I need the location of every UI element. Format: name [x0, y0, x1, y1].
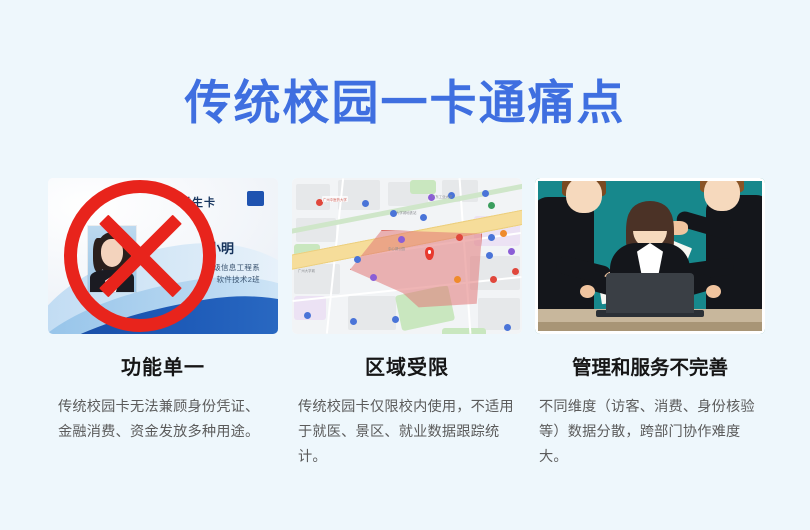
card-type-label: 学生卡 — [180, 194, 216, 210]
map-poi-marker — [392, 316, 399, 323]
map-poi-marker — [482, 190, 489, 197]
map-poi-marker — [350, 318, 357, 325]
page-title: 传统校园一卡通痛点 — [0, 76, 810, 130]
student-photo — [88, 226, 136, 292]
map-label: 中心湖公园 — [388, 246, 405, 251]
student-id-card-image: 学生卡 小明 23级信息工程系 软件技术2班 — [48, 178, 278, 334]
card-heading: 管理和服务不完善 — [535, 356, 765, 380]
left-person-head — [566, 178, 602, 213]
card-description: 不同维度（访客、消费、身份核验等）数据分散，跨部门协作难度大。 — [535, 395, 765, 470]
map-image: 广州中医药大学 大学城地铁站 广东工业大学 中心湖公园 广州大学城 — [292, 178, 522, 334]
map-poi-marker — [488, 234, 495, 241]
map-poi-marker — [488, 202, 495, 209]
map-poi-marker — [512, 268, 519, 275]
map-label: 广东工业大学 — [432, 194, 452, 199]
pain-point-card-area-restricted[interactable]: 广州中医药大学 大学城地铁站 广东工业大学 中心湖公园 广州大学城 区域受限 传… — [292, 178, 522, 470]
map-poi-marker — [486, 252, 493, 259]
card-chip-icon — [247, 191, 264, 206]
map-poi-marker — [500, 230, 507, 237]
office-graphic — [535, 178, 765, 334]
id-card-graphic: 学生卡 小明 23级信息工程系 软件技术2班 — [48, 178, 278, 334]
map-poi-marker — [490, 276, 497, 283]
map-park — [410, 180, 436, 194]
infographic-page: 传统校园一卡通痛点 学生卡 — [0, 0, 810, 530]
map-park — [442, 328, 486, 334]
photo-face — [101, 239, 123, 267]
map-label: 大学城地铁站 — [396, 210, 416, 215]
office-illustration-image — [535, 178, 765, 334]
center-person-hair — [629, 201, 671, 231]
center-person-hand-left — [580, 285, 595, 298]
desk-edge — [538, 322, 762, 331]
map-block — [478, 298, 520, 330]
card-heading: 区域受限 — [292, 356, 522, 380]
map-poi-marker — [420, 214, 427, 221]
map-block — [338, 180, 380, 210]
map-block — [348, 296, 396, 330]
pain-point-card-management-service[interactable]: 管理和服务不完善 不同维度（访客、消费、身份核验等）数据分散，跨部门协作难度大。 — [535, 178, 765, 470]
pain-point-columns: 学生卡 小明 23级信息工程系 软件技术2班 功能单一 传统校园卡无法兼顾身份凭… — [0, 178, 810, 498]
laptop-icon — [606, 273, 694, 313]
map-graphic: 广州中医药大学 大学城地铁站 广东工业大学 中心湖公园 广州大学城 — [292, 178, 522, 334]
map-poi-marker — [354, 256, 361, 263]
map-poi-marker — [504, 324, 511, 331]
map-poi-marker — [456, 234, 463, 241]
student-department: 23级信息工程系 — [204, 262, 260, 273]
map-label: 广州大学城 — [298, 268, 315, 273]
student-name: 小明 — [208, 238, 234, 257]
map-poi-marker — [362, 200, 369, 207]
pain-point-card-limited-function[interactable]: 学生卡 小明 23级信息工程系 软件技术2班 功能单一 传统校园卡无法兼顾身份凭… — [48, 178, 278, 445]
student-class: 软件技术2班 — [217, 274, 260, 285]
card-heading: 功能单一 — [48, 356, 278, 380]
map-poi-marker — [454, 276, 461, 283]
card-description: 传统校园卡仅限校内使用，不适用于就医、景区、就业数据跟踪统计。 — [292, 395, 522, 470]
center-person-hand-right — [706, 285, 721, 298]
map-poi-marker — [370, 274, 377, 281]
map-poi-marker — [508, 248, 515, 255]
map-label: 广州中医药大学 — [322, 196, 348, 202]
map-poi-marker — [304, 312, 311, 319]
map-poi-marker — [398, 236, 405, 243]
right-person-head — [704, 178, 740, 211]
card-description: 传统校园卡无法兼顾身份凭证、金融消费、资金发放多种用途。 — [48, 395, 278, 445]
